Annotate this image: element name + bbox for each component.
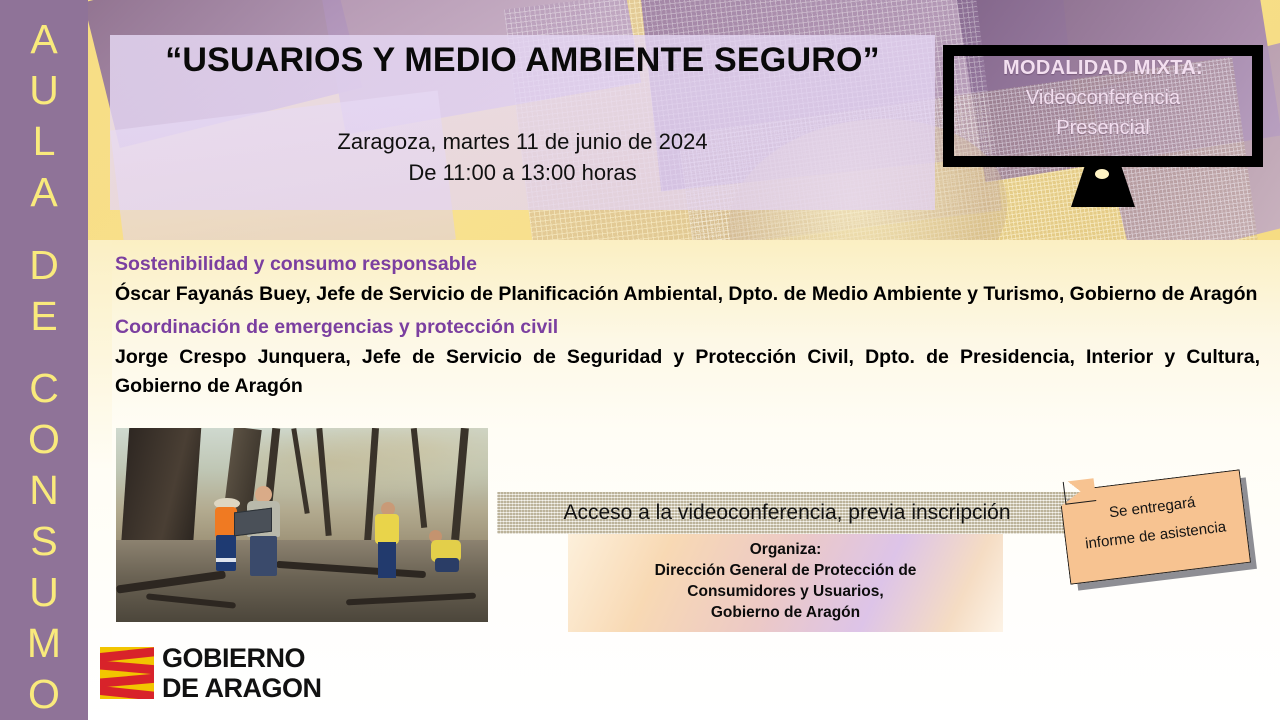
sidebar-letter: O [28,669,60,720]
organizer-line: Gobierno de Aragón [568,602,1003,623]
modality-option-presencial: Presencial [943,113,1263,143]
sidebar-letter: S [30,516,57,567]
sidebar-letter: D [29,240,59,291]
poster-root: A U L A D E C O N S U M O “USUARIOS Y ME… [0,0,1280,720]
header-banner: “USUARIOS Y MEDIO AMBIENTE SEGURO” Zarag… [88,0,1280,240]
photo-worker-stripe [216,558,236,562]
sidebar-letter: O [28,414,60,465]
logo-line-1: GOBIERNO [162,643,362,673]
event-place-date: Zaragoza, martes 11 de junio de 2024 [110,126,935,157]
sidebar-letter: U [29,567,59,618]
event-details: Zaragoza, martes 11 de junio de 2024 De … [110,126,935,188]
sidebar-letter: A [30,14,57,65]
modality-heading: MODALIDAD MIXTA: [943,53,1263,83]
photo-worker-vest [375,514,399,544]
flag-stripe [100,685,154,699]
monitor-icon: MODALIDAD MIXTA: Videoconferencia Presen… [943,45,1263,210]
monitor-indicator-dot [1095,169,1109,179]
organizer-line: Consumidores y Usuarios, [568,581,1003,602]
sidebar-letter: A [30,167,57,218]
topic-title-2: Coordinación de emergencias y protección… [115,313,1260,342]
topic-speaker-2: Jorge Crespo Junquera, Jefe de Servicio … [115,343,1260,401]
photo-worker-legs [378,542,396,578]
event-photo [116,428,488,622]
sticky-note: Se entregará informe de asistencia [1060,472,1260,602]
aragon-flag-emblem [100,647,154,699]
sidebar-letter: U [29,65,59,116]
sidebar-letter: N [29,465,59,516]
flag-stripe [100,660,154,675]
sidebar-letter: C [29,363,59,414]
sidebar-vertical-title: A U L A D E C O N S U M O [0,0,88,720]
organizer-line: Organiza: [568,539,1003,560]
sidebar-letter: E [30,291,57,342]
flag-stripe [100,673,154,688]
modality-text: MODALIDAD MIXTA: Videoconferencia Presen… [943,53,1263,143]
photo-worker [211,498,241,576]
photo-worker-legs [250,536,277,576]
photo-worker [426,530,462,572]
photo-worker-legs [435,558,459,572]
sidebar-letter: L [33,116,56,167]
access-text: Acceso a la videoconferencia, previa ins… [497,498,1077,528]
logo-wordmark: GOBIERNO DE ARAGON [162,643,362,703]
page-title: “USUARIOS Y MEDIO AMBIENTE SEGURO” [110,38,935,83]
event-time: De 11:00 a 13:00 horas [110,157,935,188]
sidebar-letter: M [27,618,61,669]
gobierno-aragon-logo: GOBIERNO DE ARAGON [100,643,362,703]
sidebar-letters: A U L A D E C O N S U M O [0,0,88,720]
topic-title-1: Sostenibilidad y consumo responsable [115,250,1260,279]
photo-worker [374,502,400,578]
logo-line-2: DE ARAGON [162,673,362,703]
photo-worker-legs [216,535,236,571]
photo-laptop [234,508,272,537]
program-list: Sostenibilidad y consumo responsable Ósc… [115,250,1260,405]
organizer-line: Dirección General de Protección de [568,560,1003,581]
organizer-text: Organiza: Dirección General de Protecció… [568,539,1003,623]
topic-speaker-1: Óscar Fayanás Buey, Jefe de Servicio de … [115,280,1260,309]
modality-option-videoconferencia: Videoconferencia [943,83,1263,113]
